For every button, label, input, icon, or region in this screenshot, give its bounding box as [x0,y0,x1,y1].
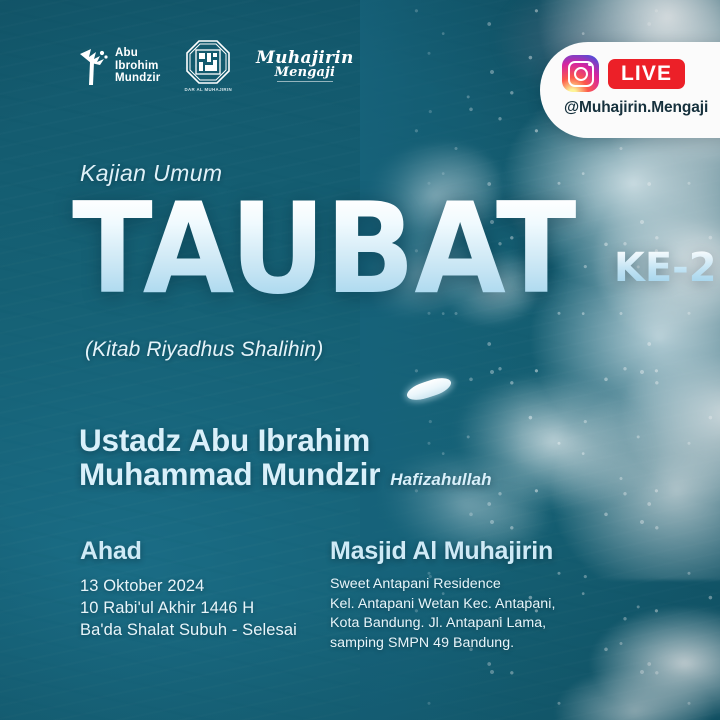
logo-abu-ibrohim-mundzir-label: Abu Ibrohim Mundzir [115,47,160,84]
venue-line: samping SMPN 49 Bandung. [330,634,630,654]
speaker-block: Ustadz Abu Ibrahim Muhammad Mundzir Hafi… [79,423,492,497]
date-block: Ahad 13 Oktober 2024 10 Rabi'ul Akhir 14… [80,537,330,653]
event-poster: Abu Ibrohim Mundzir DAR AL MUHAJIRIN Muh… [0,0,720,720]
date-day: Ahad [80,537,330,566]
venue-name: Masjid Al Muhajirin [330,537,630,566]
details-row: Ahad 13 Oktober 2024 10 Rabi'ul Akhir 14… [80,537,680,653]
speaker-name-line2: Muhammad Mundzir [79,457,380,491]
date-line: Ba'da Shalat Subuh - Selesai [80,619,330,641]
arabic-calligraphy-mark-icon [78,45,108,87]
speaker-honorific: Hafizahullah [390,463,491,497]
title-block: TAUBAT KE-2 [72,196,717,302]
live-badge-label: LIVE [608,59,685,89]
page-title: TAUBAT [72,196,576,302]
logo-muhajirin-mengaji-line2: Mengaji [275,66,336,79]
instagram-icon[interactable] [562,55,599,92]
logo-dar-al-muhajirin-caption: DAR AL MUHAJIRIN [184,87,232,92]
speaker-name-line1: Ustadz Abu Ibrahim [79,423,492,457]
venue-line: Kota Bandung. Jl. Antapani Lama, [330,614,630,634]
venue-line: Kel. Antapani Wetan Kec. Antapani, [330,595,630,615]
date-line: 13 Oktober 2024 [80,575,330,597]
speaker-name-line2-row: Muhammad Mundzir Hafizahullah [79,457,492,497]
logo-abu-ibrohim-mundzir: Abu Ibrohim Mundzir [78,45,160,87]
instagram-icon-dot [588,63,591,66]
logo-row: Abu Ibrohim Mundzir DAR AL MUHAJIRIN Muh… [78,40,354,92]
date-line: 10 Rabi'ul Akhir 1446 H [80,597,330,619]
logo-underline [277,81,333,82]
instagram-handle[interactable]: @Muhajirin.Mengaji [564,99,708,117]
logo-muhajirin-mengaji: Muhajirin Mengaji [256,50,354,82]
instagram-live-row: LIVE [562,55,685,92]
venue-block: Masjid Al Muhajirin Sweet Antapani Resid… [330,537,630,653]
title-suffix: KE-2 [614,248,717,288]
instagram-live-badge[interactable]: LIVE @Muhajirin.Mengaji [540,42,720,138]
source-book-label: (Kitab Riyadhus Shalihin) [85,338,323,362]
octagonal-arabic-emblem-icon [186,40,230,84]
venue-line: Sweet Antapani Residence [330,575,630,595]
logo-dar-al-muhajirin: DAR AL MUHAJIRIN [184,40,232,92]
instagram-icon-lens [574,67,588,81]
